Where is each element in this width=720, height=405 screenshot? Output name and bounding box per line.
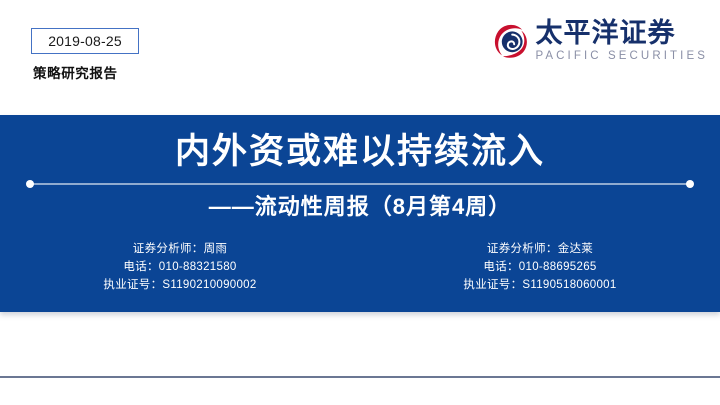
report-date-box: 2019-08-25 xyxy=(31,28,139,54)
title-divider xyxy=(30,183,690,185)
brand-logo: 太平洋证券 PACIFIC SECURITIES xyxy=(491,20,708,62)
analyst-name: 证券分析师：金达莱 xyxy=(360,241,720,259)
divider-dot-right xyxy=(686,180,694,188)
analyst-block-primary: 证券分析师：周雨 电话：010-88321580 执业证号：S119021009… xyxy=(0,241,360,294)
hero-panel: 内外资或难以持续流入 ——流动性周报（8月第4周） 证券分析师：周雨 电话：01… xyxy=(0,115,720,312)
report-subtitle: ——流动性周报（8月第4周） xyxy=(0,194,720,220)
report-date: 2019-08-25 xyxy=(48,33,122,49)
brand-name-en: PACIFIC SECURITIES xyxy=(535,50,708,63)
report-title: 内外资或难以持续流入 xyxy=(0,133,720,172)
analyst-phone: 电话：010-88321580 xyxy=(0,259,360,277)
footer-divider xyxy=(0,376,720,378)
page-header: 2019-08-25 策略研究报告 太平洋证券 PACIFIC SECURITI… xyxy=(0,0,720,115)
analyst-license: 执业证号：S1190210090002 xyxy=(0,277,360,295)
divider-dot-left xyxy=(26,180,34,188)
brand-name-cn: 太平洋证券 xyxy=(535,20,708,48)
analyst-name: 证券分析师：周雨 xyxy=(0,241,360,259)
brand-logo-text: 太平洋证券 PACIFIC SECURITIES xyxy=(535,20,708,62)
analyst-block-secondary: 证券分析师：金达莱 电话：010-88695265 执业证号：S11905180… xyxy=(360,241,720,294)
analyst-list: 证券分析师：周雨 电话：010-88321580 执业证号：S119021009… xyxy=(0,241,720,294)
analyst-phone: 电话：010-88695265 xyxy=(360,259,720,277)
report-kind-label: 策略研究报告 xyxy=(33,62,118,82)
analyst-license: 执业证号：S1190518060001 xyxy=(360,277,720,295)
pacific-securities-swirl-icon xyxy=(491,21,531,61)
